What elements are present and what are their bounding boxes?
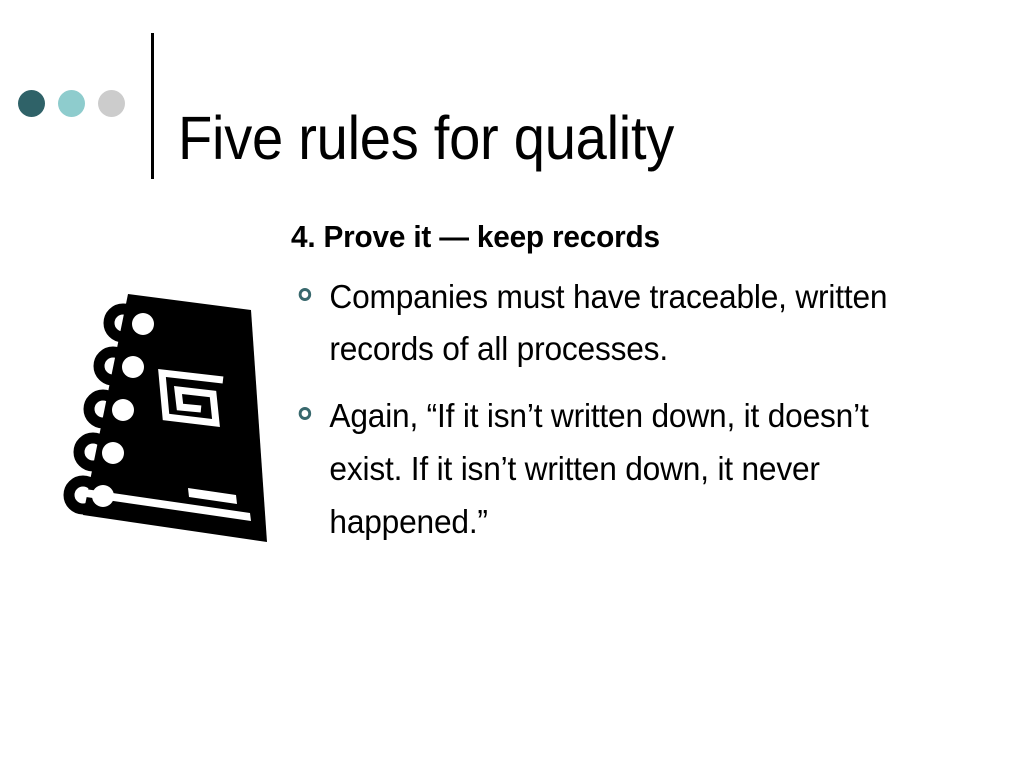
list-item-text: Again, “If it isn’t written down, it doe… [329,397,868,540]
notebook-illustration [55,276,285,561]
slide-content: 4. Prove it — keep records Companies mus… [291,219,951,549]
list-item: Again, “If it isn’t written down, it doe… [291,390,925,548]
list-item-text: Companies must have traceable, written r… [329,278,887,368]
slide-header: Five rules for quality [0,0,1024,200]
slide: Five rules for quality [0,0,1024,768]
bullet-list: Companies must have traceable, written r… [291,271,951,549]
list-item: Companies must have traceable, written r… [291,271,925,377]
content-heading: 4. Prove it — keep records [291,219,925,255]
bullet-ring-icon [299,288,311,301]
dot-dark-teal-icon [18,90,45,117]
header-dot-group [18,90,125,117]
dot-gray-icon [98,90,125,117]
dot-light-teal-icon [58,90,85,117]
page-title: Five rules for quality [178,107,674,169]
bullet-ring-icon [299,407,311,420]
title-divider-line [151,33,154,179]
